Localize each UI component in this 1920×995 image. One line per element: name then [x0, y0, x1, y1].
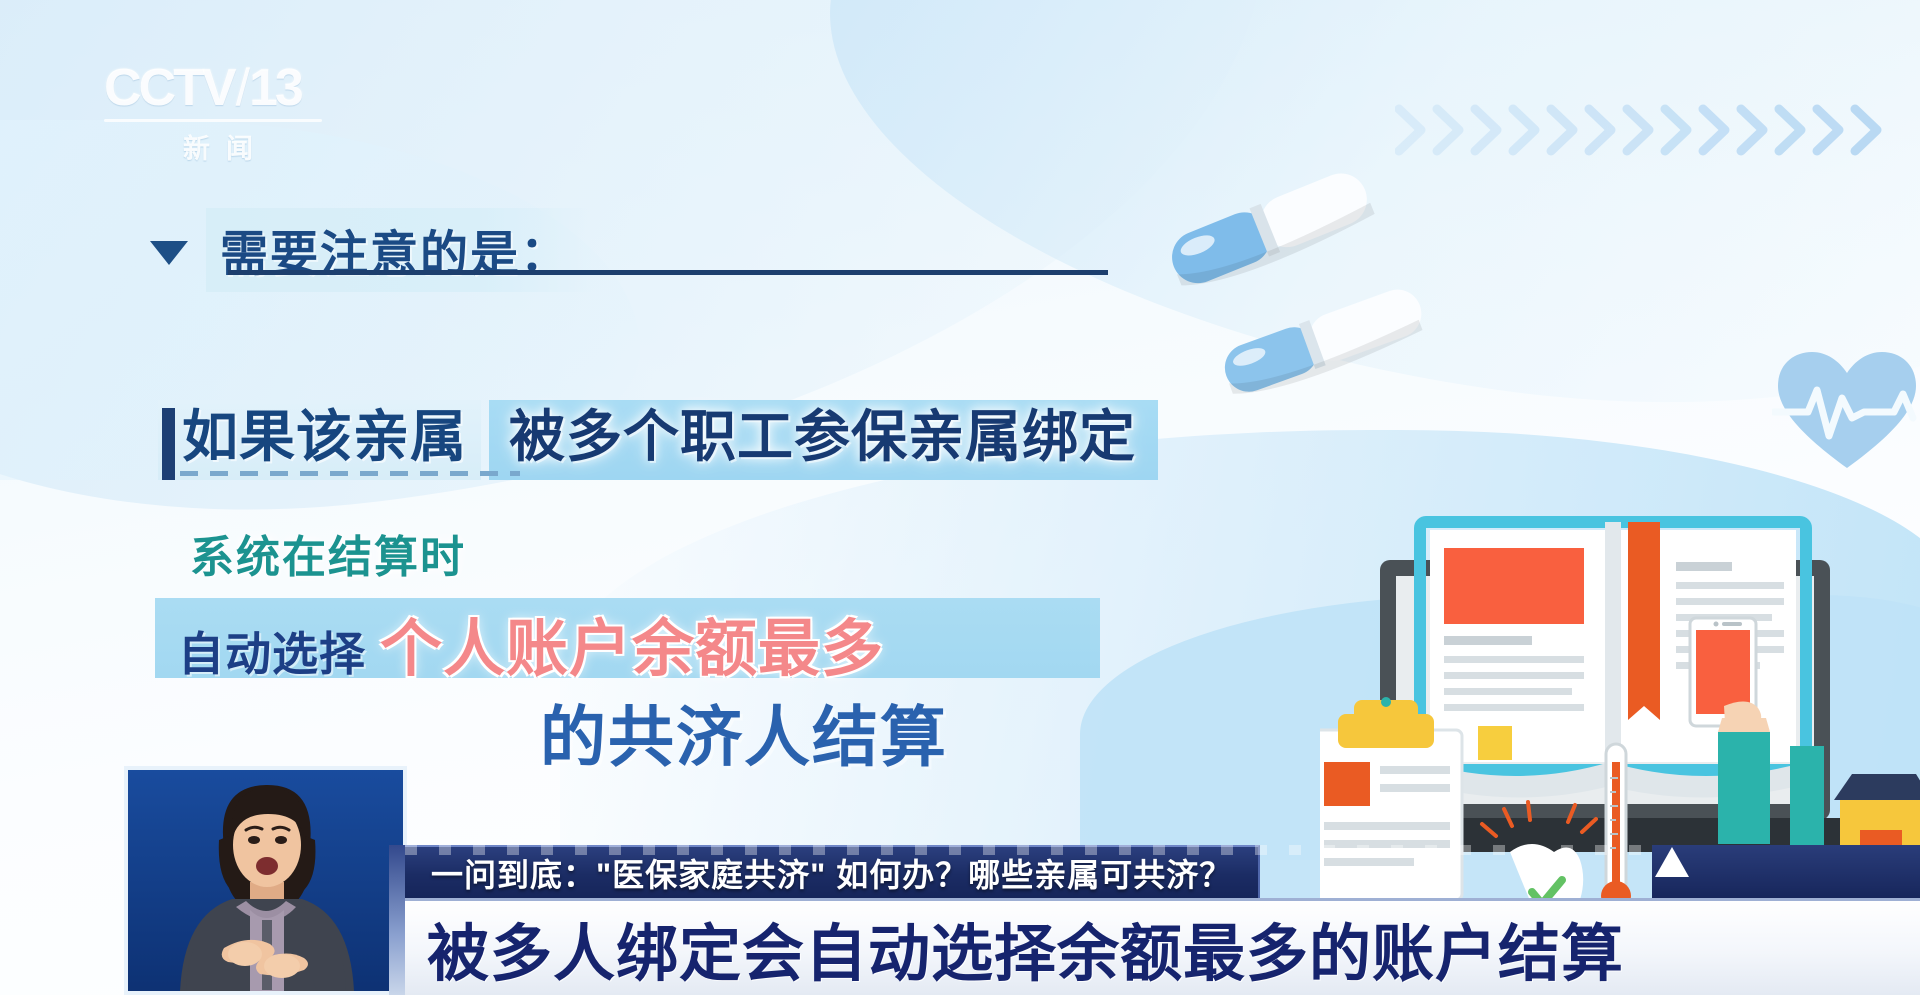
vertical-bar-marker [162, 408, 175, 480]
slide-line-2-right: 被多个职工参保亲属绑定 [489, 400, 1158, 480]
slide-heading: 需要注意的是： [206, 208, 592, 292]
slide-line-2-right-text: 被多个职工参保亲属绑定 [509, 404, 1136, 470]
slide-line-2-left-text: 如果该亲属 [182, 404, 467, 470]
slide-line-3: 系统在结算时 [190, 532, 466, 585]
slide-line-4-prefix: 自动选择 [178, 618, 366, 684]
ticker-kicker-text: 一问到底："医保家庭共济" 如何办？哪些亲属可共济？ [431, 850, 1232, 896]
slide-heading-underline [228, 270, 1108, 275]
slide-line-4-highlight: 个人账户余额最多 [380, 598, 884, 688]
ticker-headline-bar: 被多人绑定会自动选择余额最多的账户结算 [405, 898, 1920, 995]
sign-language-interpreter-inset [124, 766, 407, 995]
ticker-left-accent [389, 845, 405, 995]
interpreter-video-icon [128, 770, 403, 991]
slide-line-5: 的共济人结算 [540, 684, 948, 780]
slide-line-4: 自动选择 个人账户余额最多 [178, 598, 884, 688]
ticker-notch-block [1652, 845, 1920, 901]
slide-heading-row: 需要注意的是： [150, 208, 592, 292]
triangle-bullet-icon [150, 241, 188, 265]
slide-line-2: 如果该亲属 被多个职工参保亲属绑定 [158, 400, 1158, 480]
ticker-notch-triangle-icon [1655, 847, 1689, 877]
ticker-headline-text: 被多人绑定会自动选择余额最多的账户结算 [427, 903, 1624, 993]
dashed-underline [180, 471, 520, 476]
slide-line-2-left: 如果该亲属 [158, 400, 481, 480]
broadcast-screen: CCTV/13 新闻 [0, 0, 1920, 995]
ticker-kicker-bar: 一问到底："医保家庭共济" 如何办？哪些亲属可共济？ [405, 845, 1260, 898]
